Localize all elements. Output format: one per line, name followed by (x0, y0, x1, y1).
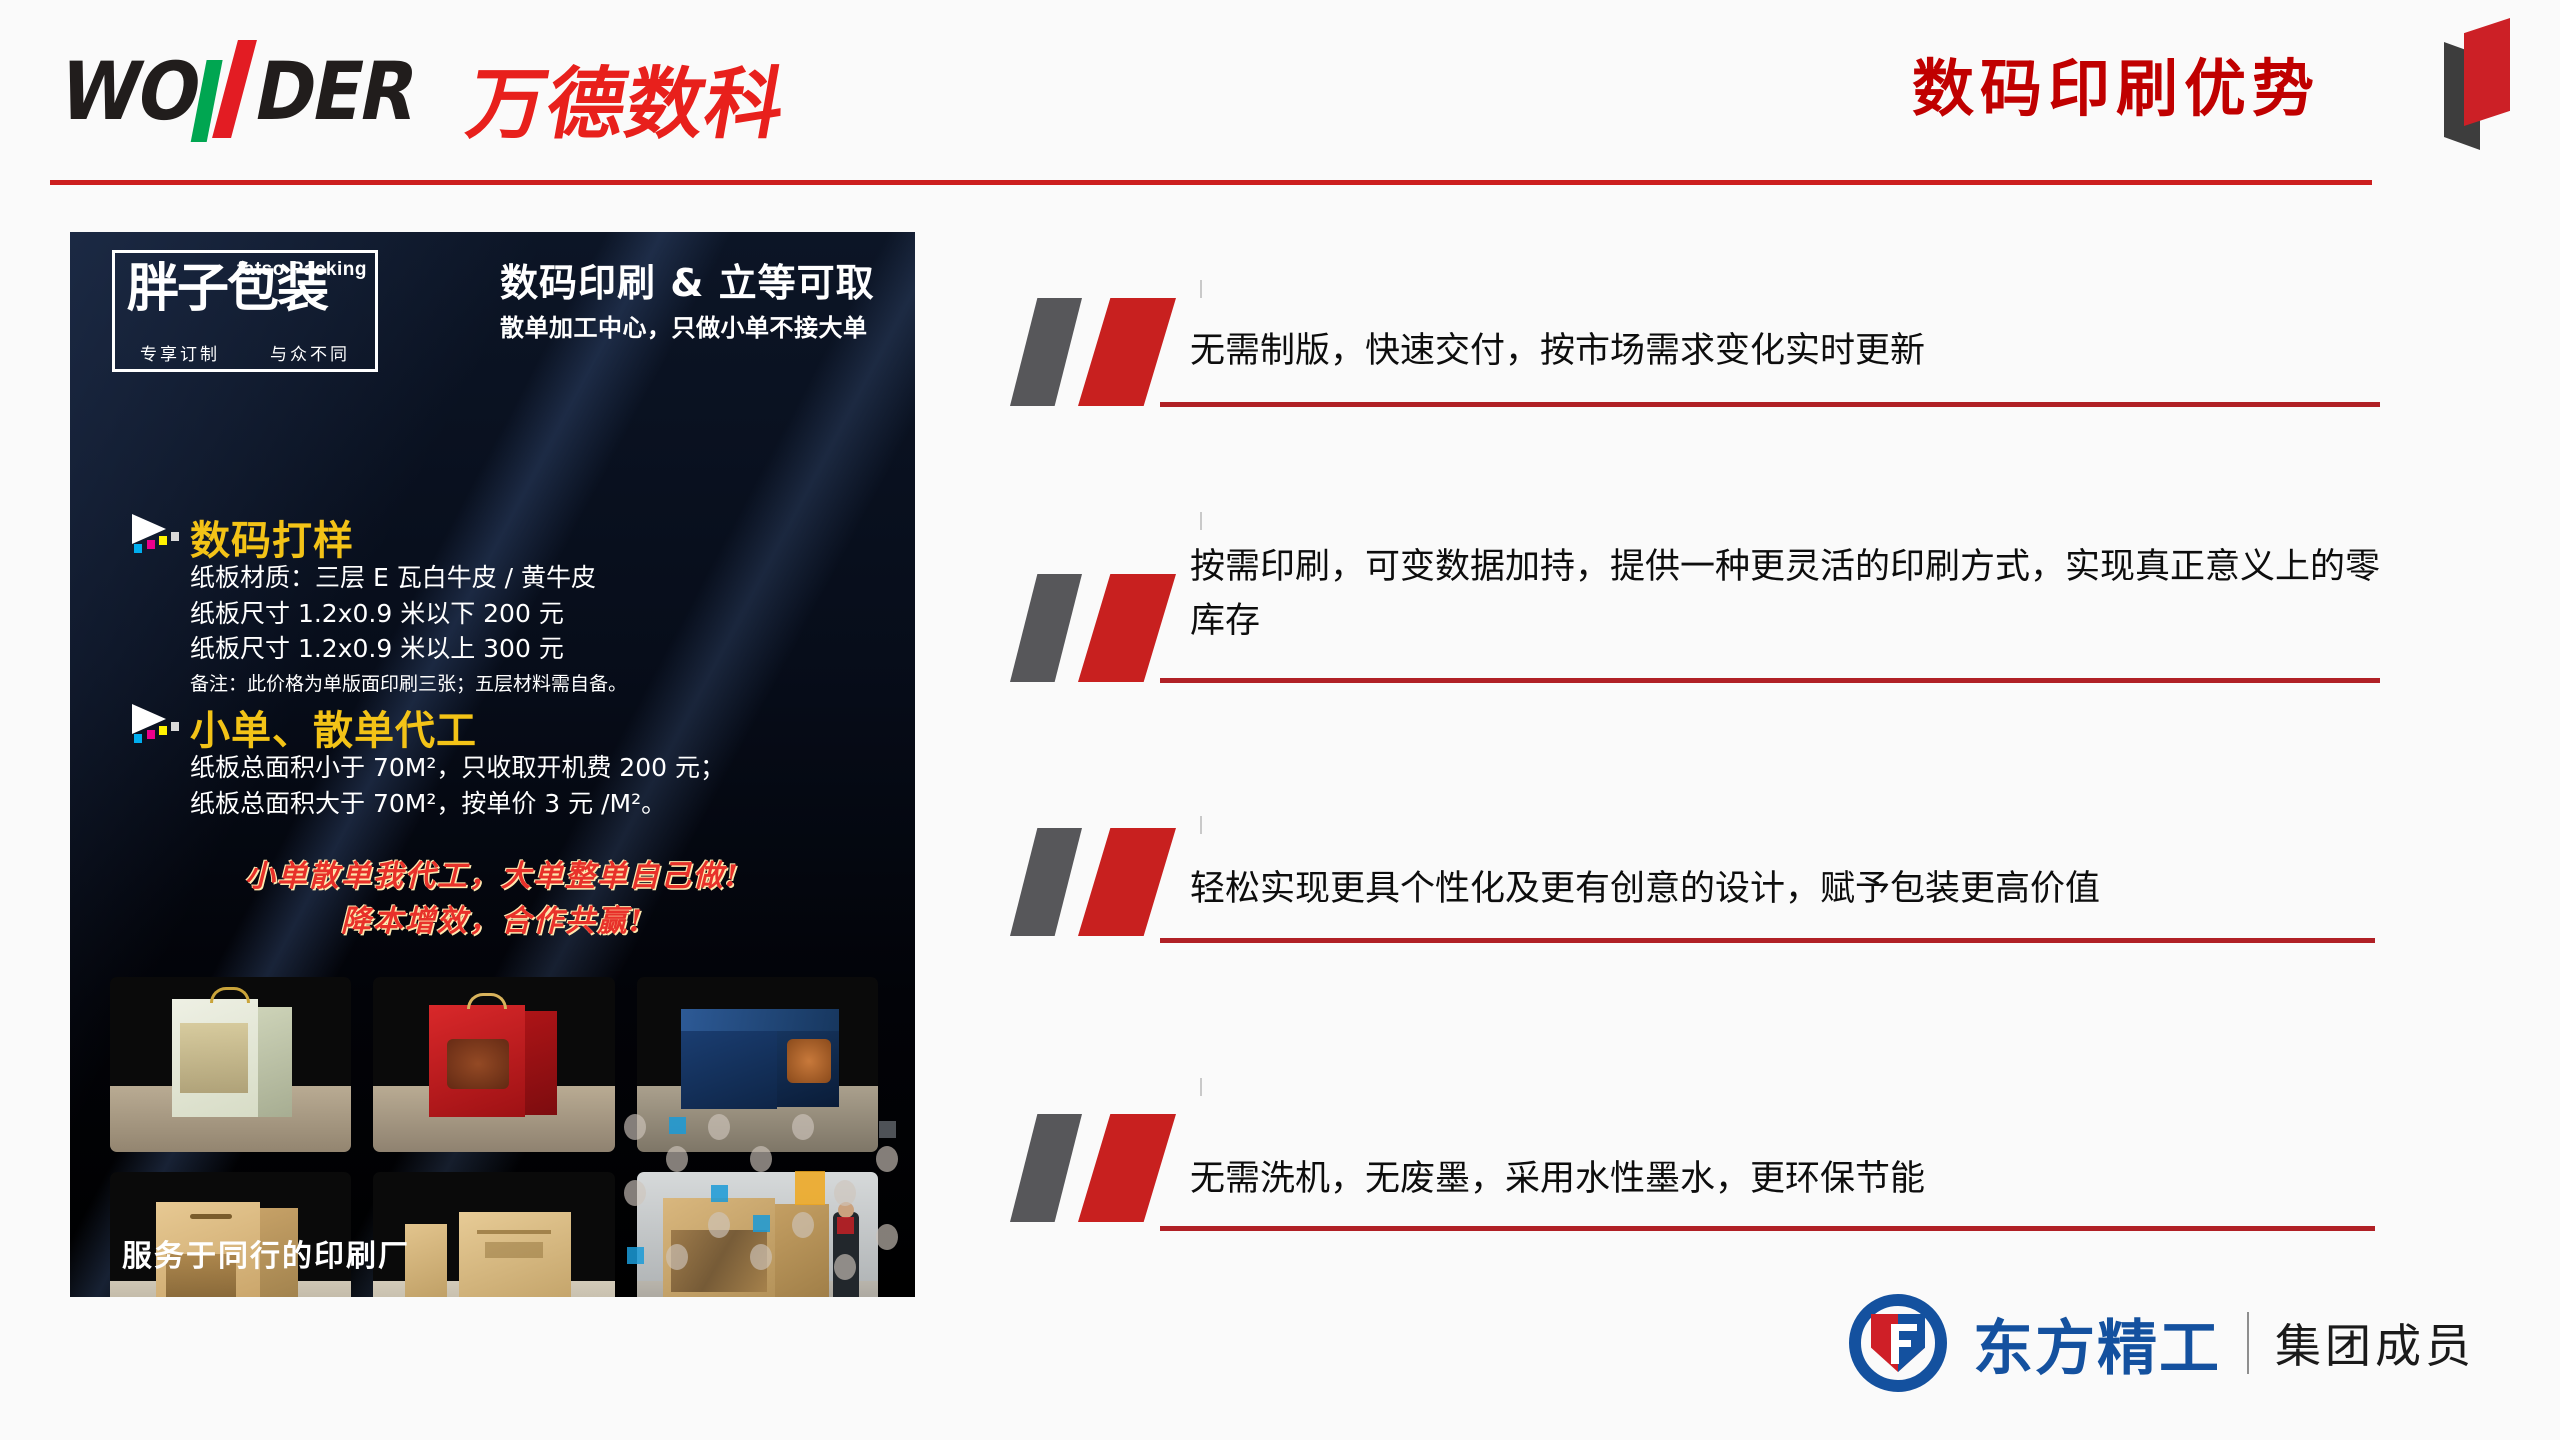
badge-english-name: fatso Packing (237, 259, 367, 281)
section-line: 纸板总面积大于 70M²，按单价 3 元 /M²。 (190, 786, 725, 822)
footer-company-name: 东方精工 (1973, 1300, 2221, 1387)
section-line: 纸板材质：三层 E 瓦白牛皮 / 黄牛皮 (190, 560, 627, 596)
badge-tagline-right: 与众不同 (270, 340, 350, 365)
section-note: 备注：此价格为单版面印刷三张；五层材料需自备。 (190, 671, 627, 698)
bullet-text: 按需印刷，可变数据加持，提供一种更灵活的印刷方式，实现真正意义上的零库存 (1190, 540, 2380, 649)
dongfang-mark-icon (1849, 1294, 1947, 1392)
header-divider (50, 180, 2372, 185)
corner-red-shape (2464, 18, 2510, 126)
section-line: 纸板尺寸 1.2x0.9 米以下 200 元 (190, 596, 627, 632)
bullet-tick-mark (1200, 280, 1202, 298)
bullet-marker-icon (1010, 1114, 1180, 1222)
footer-divider (2247, 1312, 2249, 1374)
section-body: 纸板材质：三层 E 瓦白牛皮 / 黄牛皮 纸板尺寸 1.2x0.9 米以下 20… (190, 560, 627, 697)
bullet-marker-icon (1010, 298, 1180, 406)
poster-headline: 数码印刷 & 立等可取 (500, 252, 875, 307)
bullet-marker-icon (1010, 828, 1180, 936)
product-photo-honey-gift-box (110, 977, 351, 1152)
poster-slogan: 小单散单我代工，大单整单自己做! 降本增效，合作共赢! (70, 854, 915, 944)
bullet-text: 无需制版，快速交付，按市场需求变化实时更新 (1190, 324, 2350, 378)
logo-chinese-name: 万德数科 (460, 42, 796, 154)
page-header: WO N DER 万德数科 数码印刷优势 (0, 0, 2560, 200)
logo-text-pre: WO (54, 54, 205, 130)
poster-subheadline: 散单加工中心，只做小单不接大单 (500, 308, 868, 343)
promo-poster-image: 胖子包装 fatso Packing 专享订制 与众不同 数码印刷 & 立等可取… (70, 232, 915, 1297)
dot-pattern-decoration (615, 1097, 915, 1297)
page-title: 数码印刷优势 (1912, 38, 2320, 128)
slogan-line-2: 降本增效，合作共赢! (70, 899, 915, 944)
footer-member-label: 集团成员 (2275, 1310, 2475, 1376)
badge-taglines: 专享订制 与众不同 (115, 340, 375, 365)
section-title: 数码打样 (190, 508, 354, 566)
slogan-line-1: 小单散单我代工，大单整单自己做! (70, 854, 915, 899)
wonder-logo: WO N DER (54, 48, 423, 130)
poster-footer-text: 服务于同行的印刷厂 (122, 1231, 410, 1275)
corner-decoration-icon (2422, 0, 2542, 160)
bullet-underline (1160, 678, 2380, 683)
arrow-marker-icon (128, 704, 186, 750)
bullet-underline (1160, 1226, 2375, 1231)
bullet-tick-mark (1200, 816, 1202, 834)
fatso-packing-badge: 胖子包装 fatso Packing 专享订制 与众不同 (112, 250, 378, 372)
bullet-tick-mark (1200, 512, 1202, 530)
bullet-text: 无需洗机，无废墨，采用水性墨水，更环保节能 (1190, 1152, 2350, 1206)
bullet-marker-icon (1010, 574, 1180, 682)
section-title: 小单、散单代工 (190, 698, 477, 756)
dongfang-precision-logo: 东方精工 集团成员 (1849, 1294, 2475, 1392)
badge-tagline-left: 专享订制 (140, 340, 220, 365)
bullet-underline (1160, 938, 2375, 943)
section-line: 纸板尺寸 1.2x0.9 米以上 300 元 (190, 631, 627, 667)
logo-text-post: DER (249, 54, 422, 130)
product-photo-red-gift-box (373, 977, 614, 1152)
section-line: 纸板总面积小于 70M²，只收取开机费 200 元； (190, 750, 725, 786)
arrow-marker-icon (128, 514, 186, 560)
section-body: 纸板总面积小于 70M²，只收取开机费 200 元； 纸板总面积大于 70M²，… (190, 750, 725, 821)
bullet-underline (1160, 402, 2380, 407)
bullet-text: 轻松实现更具个性化及更有创意的设计，赋予包装更高价值 (1190, 862, 2390, 916)
bullet-tick-mark (1200, 1078, 1202, 1096)
